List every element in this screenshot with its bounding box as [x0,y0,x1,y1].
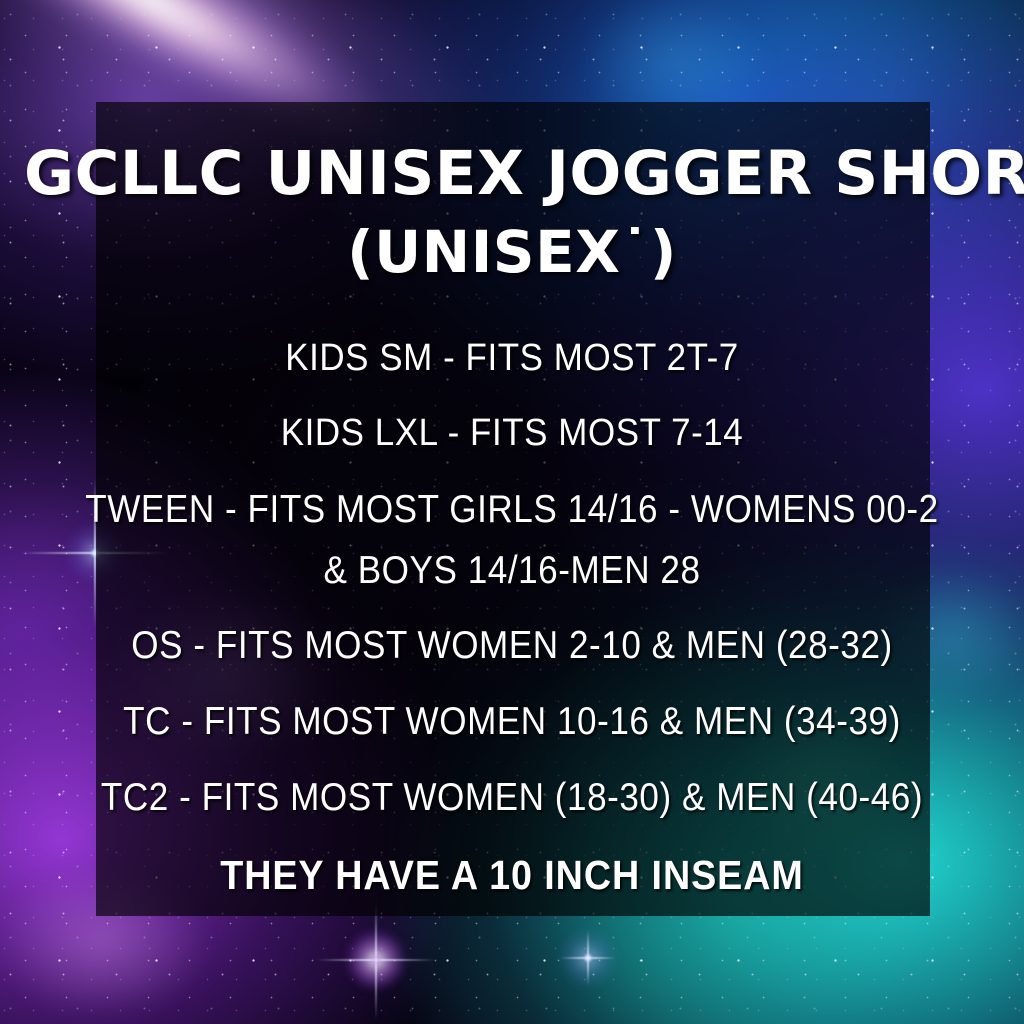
page-subtitle: (UNISEX˙) [0,222,1024,283]
sizing-line-os: OS - FITS MOST WOMEN 2-10 & MEN (28-32) [51,624,973,668]
page-title: GCLLC UNISEX JOGGER SHORTS [0,142,1024,207]
sizing-line-tc2: TC2 - FITS MOST WOMEN (18-30) & MEN (40-… [51,776,973,820]
sizing-chart-poster: GCLLC UNISEX JOGGER SHORTS (UNISEX˙) KID… [0,0,1024,1024]
sizing-line-kids-lxl: KIDS LXL - FITS MOST 7-14 [41,412,983,455]
sizing-line-kids-sm: KIDS SM - FITS MOST 2T-7 [41,337,983,380]
poster-content: GCLLC UNISEX JOGGER SHORTS (UNISEX˙) KID… [0,0,1024,1024]
inseam-note: THEY HAVE A 10 INCH INSEAM [41,853,983,899]
sizing-line-tween-part2: & BOYS 14/16-MEN 28 [51,549,973,593]
sizing-line-tween-part1: TWEEN - FITS MOST GIRLS 14/16 - WOMENS 0… [51,488,973,532]
sizing-line-tc: TC - FITS MOST WOMEN 10-16 & MEN (34-39) [51,700,973,744]
